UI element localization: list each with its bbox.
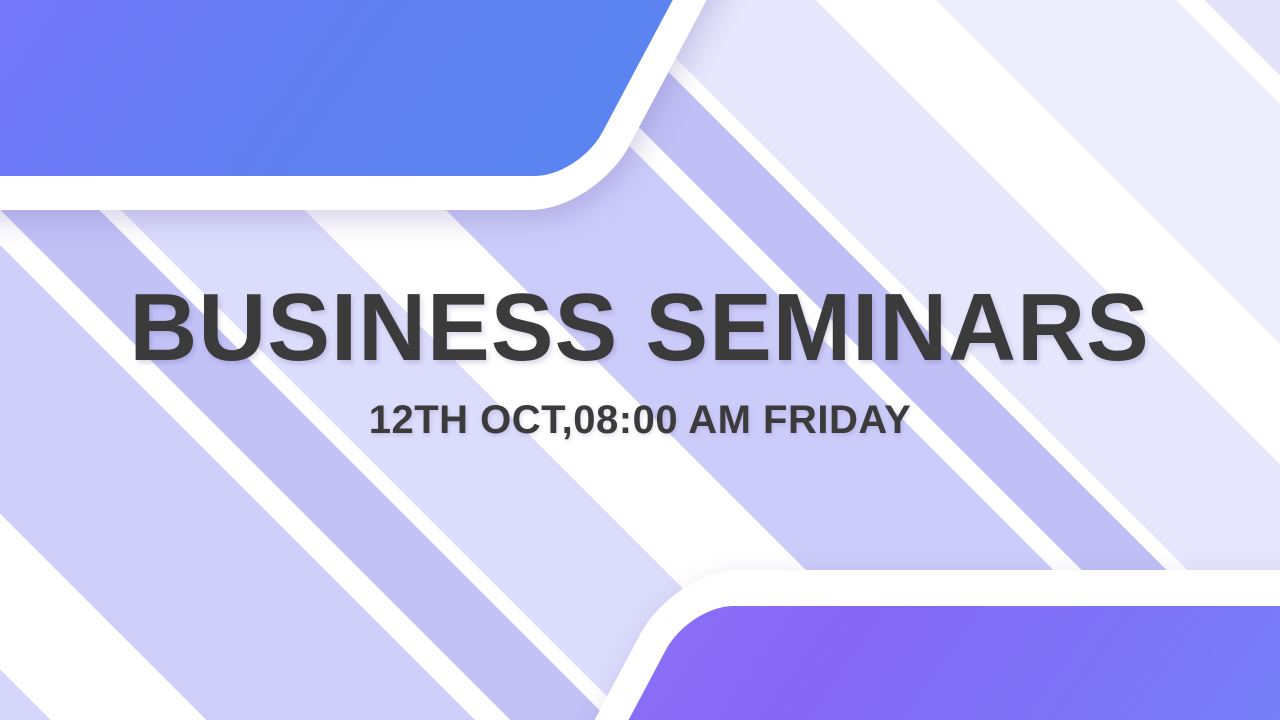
event-subtitle: 12TH OCT,08:00 AM FRIDAY bbox=[369, 400, 912, 440]
seminar-banner-slide: BUSINESS SEMINARS 12TH OCT,08:00 AM FRID… bbox=[0, 0, 1280, 720]
event-title: BUSINESS SEMINARS bbox=[130, 280, 1150, 376]
headline-block: BUSINESS SEMINARS 12TH OCT,08:00 AM FRID… bbox=[0, 0, 1280, 720]
